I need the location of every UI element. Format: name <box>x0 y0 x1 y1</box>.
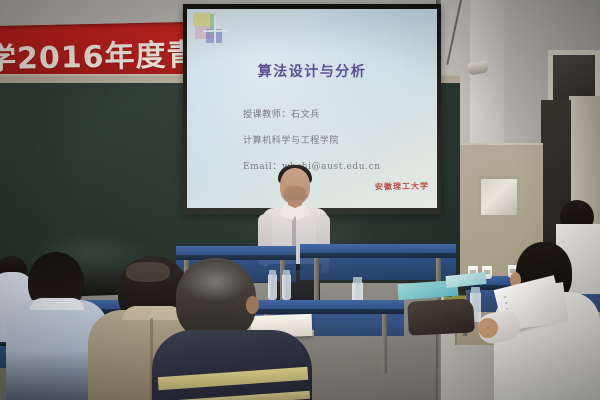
broken-image-placeholder-icon <box>193 13 227 45</box>
dark-shoulder-bag <box>407 298 475 335</box>
attendee-collar <box>30 298 84 310</box>
attendee-ear <box>246 296 259 314</box>
banner-text: 学2016年度青年教 <box>0 28 193 78</box>
classroom-photo: 学2016年度青年教 算法设计与分析 授课教师：石文兵 计算机科学与工程学院 E… <box>0 0 600 400</box>
bottle-cap <box>471 287 480 293</box>
attendee-hair-highlight <box>126 262 170 282</box>
bottle-cap <box>269 270 276 275</box>
attendee-navy-striped-shirt <box>152 330 312 400</box>
attendee-collar <box>122 306 184 320</box>
water-bottle <box>268 274 277 300</box>
slide-line-department: 计算机科学与工程学院 <box>243 133 339 146</box>
attendee-grey-hair <box>182 262 248 302</box>
attendee-hand <box>478 318 498 338</box>
slide-line-instructor: 授课教师：石文兵 <box>243 107 320 120</box>
bottle-cap <box>283 270 290 275</box>
university-logo-text: 安徽理工大学 <box>375 181 429 193</box>
desk-row-back-right <box>300 244 456 284</box>
water-bottle <box>282 274 291 300</box>
bottle-cap <box>353 277 362 283</box>
door-window-pane <box>478 176 520 218</box>
slide-title: 算法设计与分析 <box>187 61 437 81</box>
